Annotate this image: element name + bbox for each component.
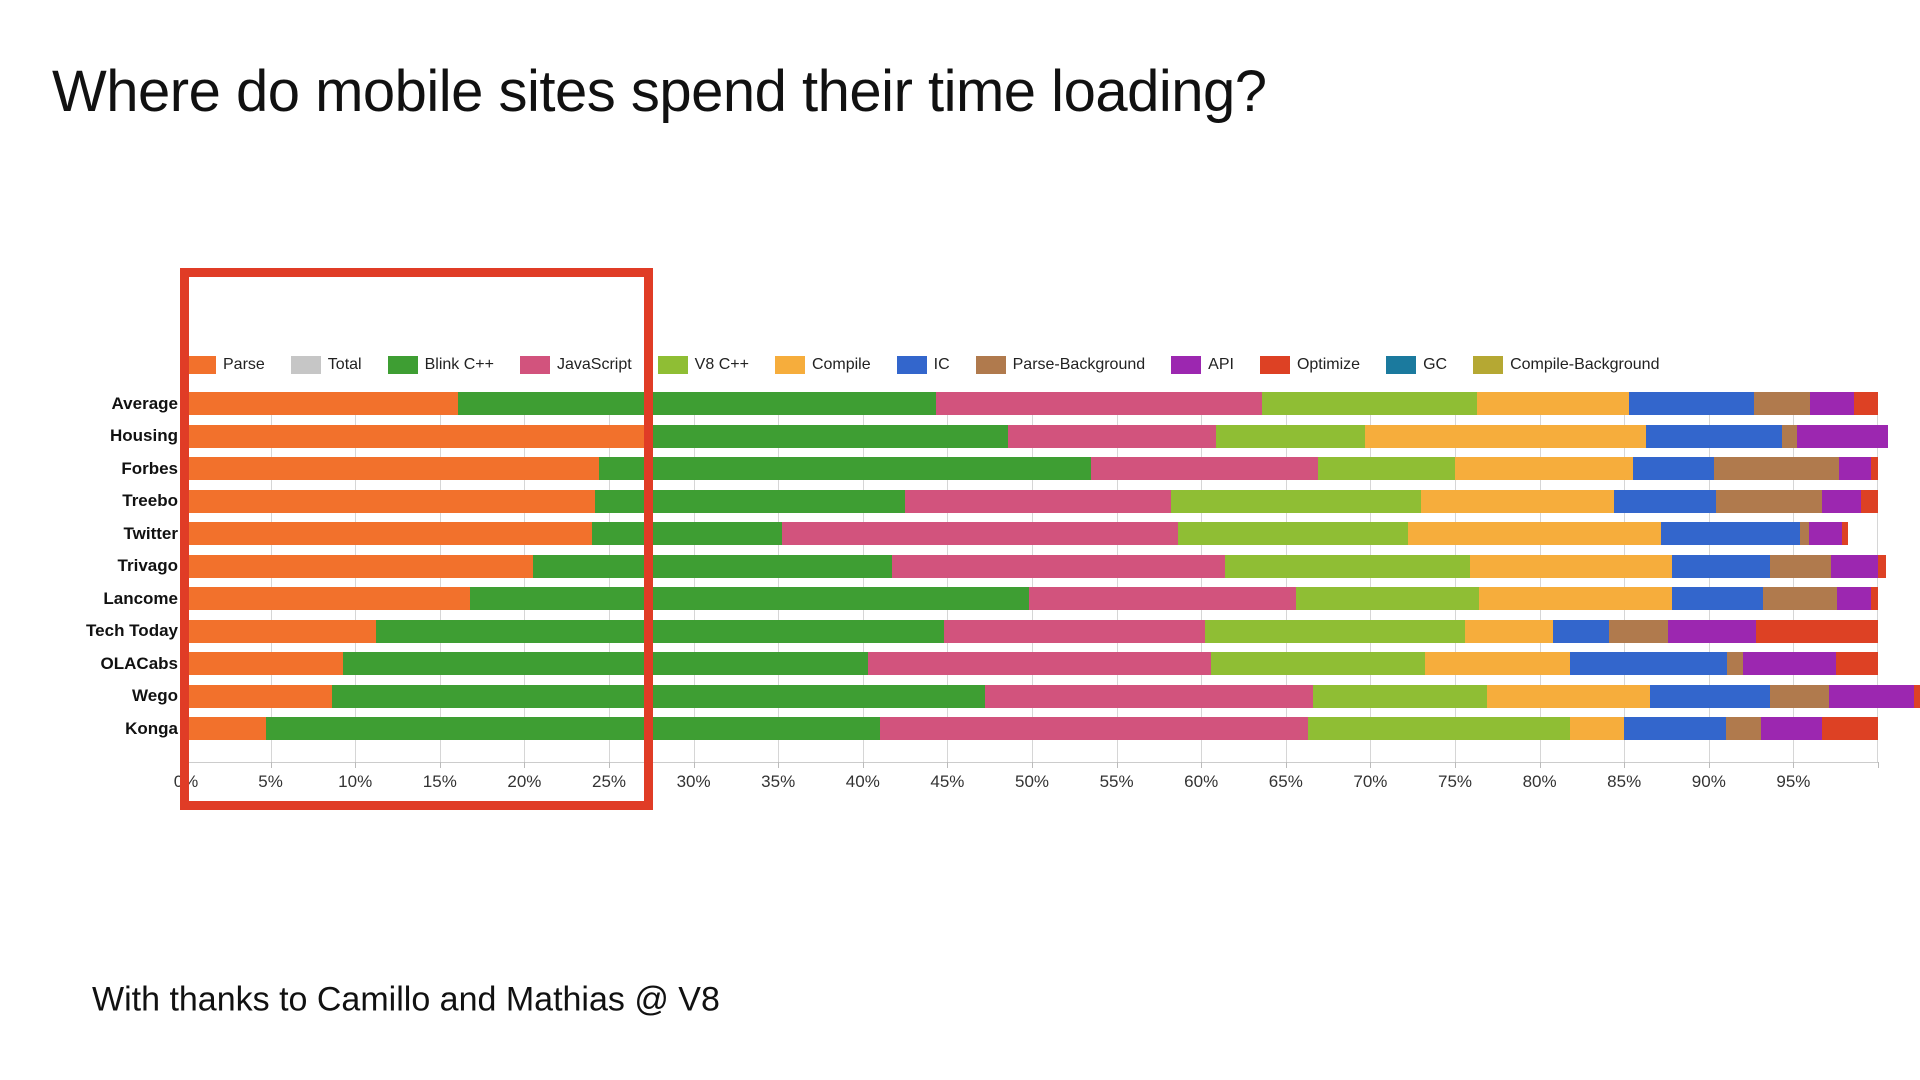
x-axis-tick xyxy=(524,762,525,768)
bar-segment-v8-c-[interactable] xyxy=(1318,457,1455,480)
bar-segment-compile[interactable] xyxy=(1421,490,1614,513)
bar-segment-optimize[interactable] xyxy=(1842,522,1847,545)
x-axis-tick xyxy=(1793,762,1794,768)
x-axis-tick xyxy=(778,762,779,768)
bar-segment-compile[interactable] xyxy=(1425,652,1571,675)
bar-segment-optimize[interactable] xyxy=(1861,490,1878,513)
bar-segment-parse[interactable] xyxy=(186,425,646,448)
legend-item-parse-background[interactable]: Parse-Background xyxy=(976,356,1146,374)
bar-segment-v8-c-[interactable] xyxy=(1308,717,1570,740)
legend-swatch-icon xyxy=(775,356,805,374)
y-axis-category-label: Average xyxy=(112,394,178,414)
bar-segment-parse-background[interactable] xyxy=(1716,490,1823,513)
legend-item-compile-background[interactable]: Compile-Background xyxy=(1473,356,1659,374)
legend-item-optimize[interactable]: Optimize xyxy=(1260,356,1360,374)
legend-item-label: Parse-Background xyxy=(1013,356,1146,374)
bar-segment-javascript[interactable] xyxy=(1091,457,1318,480)
bar-segment-v8-c-[interactable] xyxy=(1178,522,1408,545)
x-axis-tick-label: 40% xyxy=(846,772,880,792)
bar-segment-javascript[interactable] xyxy=(1029,587,1296,610)
legend-item-gc[interactable]: GC xyxy=(1386,356,1447,374)
legend-swatch-icon xyxy=(388,356,418,374)
legend-swatch-icon xyxy=(1473,356,1503,374)
legend-swatch-icon xyxy=(658,356,688,374)
bar-segment-compile[interactable] xyxy=(1477,392,1629,415)
bar-segment-parse-background[interactable] xyxy=(1754,392,1810,415)
bar-segment-parse[interactable] xyxy=(186,652,343,675)
bar-segment-api[interactable] xyxy=(1743,652,1836,675)
x-axis-tick xyxy=(947,762,948,768)
bar-segment-javascript[interactable] xyxy=(892,555,1225,578)
bar-segment-blink-c-[interactable] xyxy=(376,620,945,643)
bar-segment-v8-c-[interactable] xyxy=(1216,425,1365,448)
y-axis-category-label: Lancome xyxy=(103,589,178,609)
bar-segment-compile[interactable] xyxy=(1465,620,1553,643)
bar-segment-api[interactable] xyxy=(1668,620,1756,643)
bar-segment-ic[interactable] xyxy=(1646,425,1781,448)
bar-segment-v8-c-[interactable] xyxy=(1296,587,1479,610)
x-axis-tick xyxy=(1540,762,1541,768)
legend-swatch-icon xyxy=(1386,356,1416,374)
bar-segment-javascript[interactable] xyxy=(782,522,1178,545)
bar-segment-compile[interactable] xyxy=(1455,457,1633,480)
x-axis-tick xyxy=(1117,762,1118,768)
bar-segment-optimize[interactable] xyxy=(1871,457,1878,480)
x-axis-tick xyxy=(609,762,610,768)
bar-segment-api[interactable] xyxy=(1810,392,1854,415)
bar-segment-parse[interactable] xyxy=(186,392,458,415)
bar-segment-blink-c-[interactable] xyxy=(533,555,892,578)
slide-footnote: With thanks to Camillo and Mathias @ V8 xyxy=(92,981,720,1020)
bar-segment-parse-background[interactable] xyxy=(1782,425,1797,448)
bar-segment-javascript[interactable] xyxy=(868,652,1211,675)
bar-segment-parse-background[interactable] xyxy=(1726,717,1762,740)
bar-segment-api[interactable] xyxy=(1809,522,1843,545)
bar-segment-blink-c-[interactable] xyxy=(470,587,1028,610)
bar-segment-optimize[interactable] xyxy=(1836,652,1878,675)
x-axis-tick-label: 65% xyxy=(1269,772,1303,792)
bar-segment-ic[interactable] xyxy=(1570,652,1727,675)
x-axis-tick-label: 0% xyxy=(174,772,199,792)
bar-segment-parse[interactable] xyxy=(186,457,599,480)
bar-segment-ic[interactable] xyxy=(1633,457,1714,480)
legend-swatch-icon xyxy=(291,356,321,374)
legend-swatch-icon xyxy=(1260,356,1290,374)
legend-item-label: Blink C++ xyxy=(425,356,494,374)
bar-segment-v8-c-[interactable] xyxy=(1313,685,1487,708)
x-axis-tick-label: 90% xyxy=(1692,772,1726,792)
bar-segment-parse[interactable] xyxy=(186,717,266,740)
bar-segment-api[interactable] xyxy=(1797,425,1888,448)
bar-segment-javascript[interactable] xyxy=(936,392,1263,415)
bar-segment-parse-background[interactable] xyxy=(1770,555,1831,578)
y-axis-category-label: Forbes xyxy=(121,459,178,479)
x-axis-tick xyxy=(1878,762,1879,768)
x-axis-tick xyxy=(355,762,356,768)
bar-segment-ic[interactable] xyxy=(1624,717,1726,740)
bar-segment-javascript[interactable] xyxy=(880,717,1308,740)
bar-segment-ic[interactable] xyxy=(1661,522,1800,545)
legend-item-label: Optimize xyxy=(1297,356,1360,374)
bar-segment-compile[interactable] xyxy=(1479,587,1672,610)
bar-segment-optimize[interactable] xyxy=(1756,620,1878,643)
chart-legend: ParseTotalBlink C++JavaScriptV8 C++Compi… xyxy=(186,352,1685,378)
x-axis-tick xyxy=(1370,762,1371,768)
y-axis-category-label: Housing xyxy=(110,426,178,446)
legend-swatch-icon xyxy=(186,356,216,374)
bar-segment-blink-c-[interactable] xyxy=(595,490,905,513)
bar-segment-parse-background[interactable] xyxy=(1714,457,1839,480)
legend-swatch-icon xyxy=(1171,356,1201,374)
bar-segment-ic[interactable] xyxy=(1650,685,1770,708)
x-axis-tick xyxy=(1709,762,1710,768)
bar-segment-v8-c-[interactable] xyxy=(1171,490,1421,513)
legend-item-label: Parse xyxy=(223,356,265,374)
legend-item-ic[interactable]: IC xyxy=(897,356,950,374)
bar-segment-blink-c-[interactable] xyxy=(458,392,935,415)
x-axis-tick-label: 85% xyxy=(1607,772,1641,792)
bar-segment-parse[interactable] xyxy=(186,490,595,513)
legend-item-label: JavaScript xyxy=(557,356,632,374)
bar-segment-parse-background[interactable] xyxy=(1763,587,1837,610)
bar-segment-ic[interactable] xyxy=(1672,587,1763,610)
bar-segment-parse-background[interactable] xyxy=(1800,522,1808,545)
bar-segment-compile[interactable] xyxy=(1470,555,1671,578)
x-axis-tick-label: 10% xyxy=(338,772,372,792)
bar-segment-javascript[interactable] xyxy=(905,490,1171,513)
bar-segment-ic[interactable] xyxy=(1553,620,1609,643)
x-axis-tick xyxy=(1032,762,1033,768)
bar-segment-compile[interactable] xyxy=(1365,425,1646,448)
bar-segment-parse-background[interactable] xyxy=(1609,620,1668,643)
slide: Where do mobile sites spend their time l… xyxy=(0,0,1920,1080)
y-axis-category-label: Trivago xyxy=(118,556,178,576)
bar-segment-optimize[interactable] xyxy=(1914,685,1920,708)
bar-segment-compile[interactable] xyxy=(1570,717,1624,740)
stacked-bar-chart: ParseTotalBlink C++JavaScriptV8 C++Compi… xyxy=(0,0,1920,1080)
x-axis-tick xyxy=(694,762,695,768)
legend-item-v8-c-[interactable]: V8 C++ xyxy=(658,356,749,374)
bar-segment-blink-c-[interactable] xyxy=(332,685,985,708)
legend-swatch-icon xyxy=(897,356,927,374)
bar-segment-parse[interactable] xyxy=(186,522,592,545)
bar-segment-javascript[interactable] xyxy=(1008,425,1216,448)
bar-segment-parse[interactable] xyxy=(186,587,470,610)
x-axis-tick-label: 95% xyxy=(1776,772,1810,792)
x-axis-tick-label: 60% xyxy=(1184,772,1218,792)
bar-segment-api[interactable] xyxy=(1822,490,1861,513)
bar-segment-api[interactable] xyxy=(1837,587,1871,610)
bar-segment-api[interactable] xyxy=(1839,457,1871,480)
x-axis-tick-label: 5% xyxy=(258,772,283,792)
x-axis-tick xyxy=(1624,762,1625,768)
legend-item-label: Total xyxy=(328,356,362,374)
x-axis-tick xyxy=(1455,762,1456,768)
legend-item-javascript[interactable]: JavaScript xyxy=(520,356,632,374)
bar-segment-optimize[interactable] xyxy=(1871,587,1878,610)
bar-segment-optimize[interactable] xyxy=(1854,392,1878,415)
y-axis-category-label: Konga xyxy=(125,719,178,739)
bar-segment-blink-c-[interactable] xyxy=(266,717,880,740)
bar-segment-v8-c-[interactable] xyxy=(1225,555,1470,578)
bar-segment-v8-c-[interactable] xyxy=(1262,392,1477,415)
bar-segment-api[interactable] xyxy=(1831,555,1878,578)
x-axis-tick-label: 20% xyxy=(507,772,541,792)
x-axis-tick-label: 15% xyxy=(423,772,457,792)
y-axis-category-label: Treebo xyxy=(122,491,178,511)
legend-item-label: GC xyxy=(1423,356,1447,374)
x-axis-tick xyxy=(1201,762,1202,768)
y-axis-category-label: Tech Today xyxy=(86,621,178,641)
x-axis-tick-label: 80% xyxy=(1523,772,1557,792)
legend-swatch-icon xyxy=(976,356,1006,374)
legend-item-blink-c-[interactable]: Blink C++ xyxy=(388,356,494,374)
legend-item-label: V8 C++ xyxy=(695,356,749,374)
bar-segment-blink-c-[interactable] xyxy=(343,652,868,675)
bar-segment-blink-c-[interactable] xyxy=(646,425,1008,448)
legend-item-label: Compile xyxy=(812,356,871,374)
bar-segment-parse[interactable] xyxy=(186,555,533,578)
bar-segment-api[interactable] xyxy=(1761,717,1822,740)
legend-item-compile[interactable]: Compile xyxy=(775,356,871,374)
bar-segment-ic[interactable] xyxy=(1672,555,1770,578)
bar-segment-blink-c-[interactable] xyxy=(599,457,1091,480)
x-axis-tick-label: 50% xyxy=(1015,772,1049,792)
bar-segment-compile[interactable] xyxy=(1487,685,1649,708)
x-axis-tick-label: 55% xyxy=(1100,772,1134,792)
bar-segment-blink-c-[interactable] xyxy=(592,522,782,545)
legend-item-parse[interactable]: Parse xyxy=(186,356,265,374)
x-axis-tick xyxy=(1286,762,1287,768)
x-axis-tick-label: 70% xyxy=(1353,772,1387,792)
bar-segment-v8-c-[interactable] xyxy=(1205,620,1466,643)
bar-segment-optimize[interactable] xyxy=(1822,717,1878,740)
x-axis-tick-label: 25% xyxy=(592,772,626,792)
bar-segment-ic[interactable] xyxy=(1629,392,1754,415)
bar-segment-optimize[interactable] xyxy=(1878,555,1886,578)
x-axis-tick-label: 35% xyxy=(761,772,795,792)
legend-item-api[interactable]: API xyxy=(1171,356,1234,374)
bar-segment-parse-background[interactable] xyxy=(1727,652,1742,675)
legend-item-label: API xyxy=(1208,356,1234,374)
y-axis-category-label: Twitter xyxy=(124,524,178,544)
bar-segment-javascript[interactable] xyxy=(944,620,1205,643)
bar-segment-parse-background[interactable] xyxy=(1770,685,1829,708)
x-axis-tick xyxy=(186,762,187,768)
x-axis-tick-label: 75% xyxy=(1438,772,1472,792)
x-axis-tick-label: 45% xyxy=(930,772,964,792)
bar-segment-v8-c-[interactable] xyxy=(1211,652,1424,675)
legend-item-label: IC xyxy=(934,356,950,374)
x-axis-tick xyxy=(440,762,441,768)
x-axis-tick-label: 30% xyxy=(677,772,711,792)
y-axis-category-label: OLACabs xyxy=(101,654,178,674)
bar-segment-compile[interactable] xyxy=(1408,522,1662,545)
legend-item-label: Compile-Background xyxy=(1510,356,1659,374)
legend-swatch-icon xyxy=(520,356,550,374)
bar-segment-parse[interactable] xyxy=(186,620,376,643)
bar-segment-javascript[interactable] xyxy=(985,685,1313,708)
bar-segment-api[interactable] xyxy=(1829,685,1914,708)
x-axis-tick xyxy=(863,762,864,768)
bar-segment-ic[interactable] xyxy=(1614,490,1716,513)
legend-item-total[interactable]: Total xyxy=(291,356,362,374)
x-axis-tick xyxy=(271,762,272,768)
y-axis-category-label: Wego xyxy=(132,686,178,706)
bar-segment-parse[interactable] xyxy=(186,685,332,708)
